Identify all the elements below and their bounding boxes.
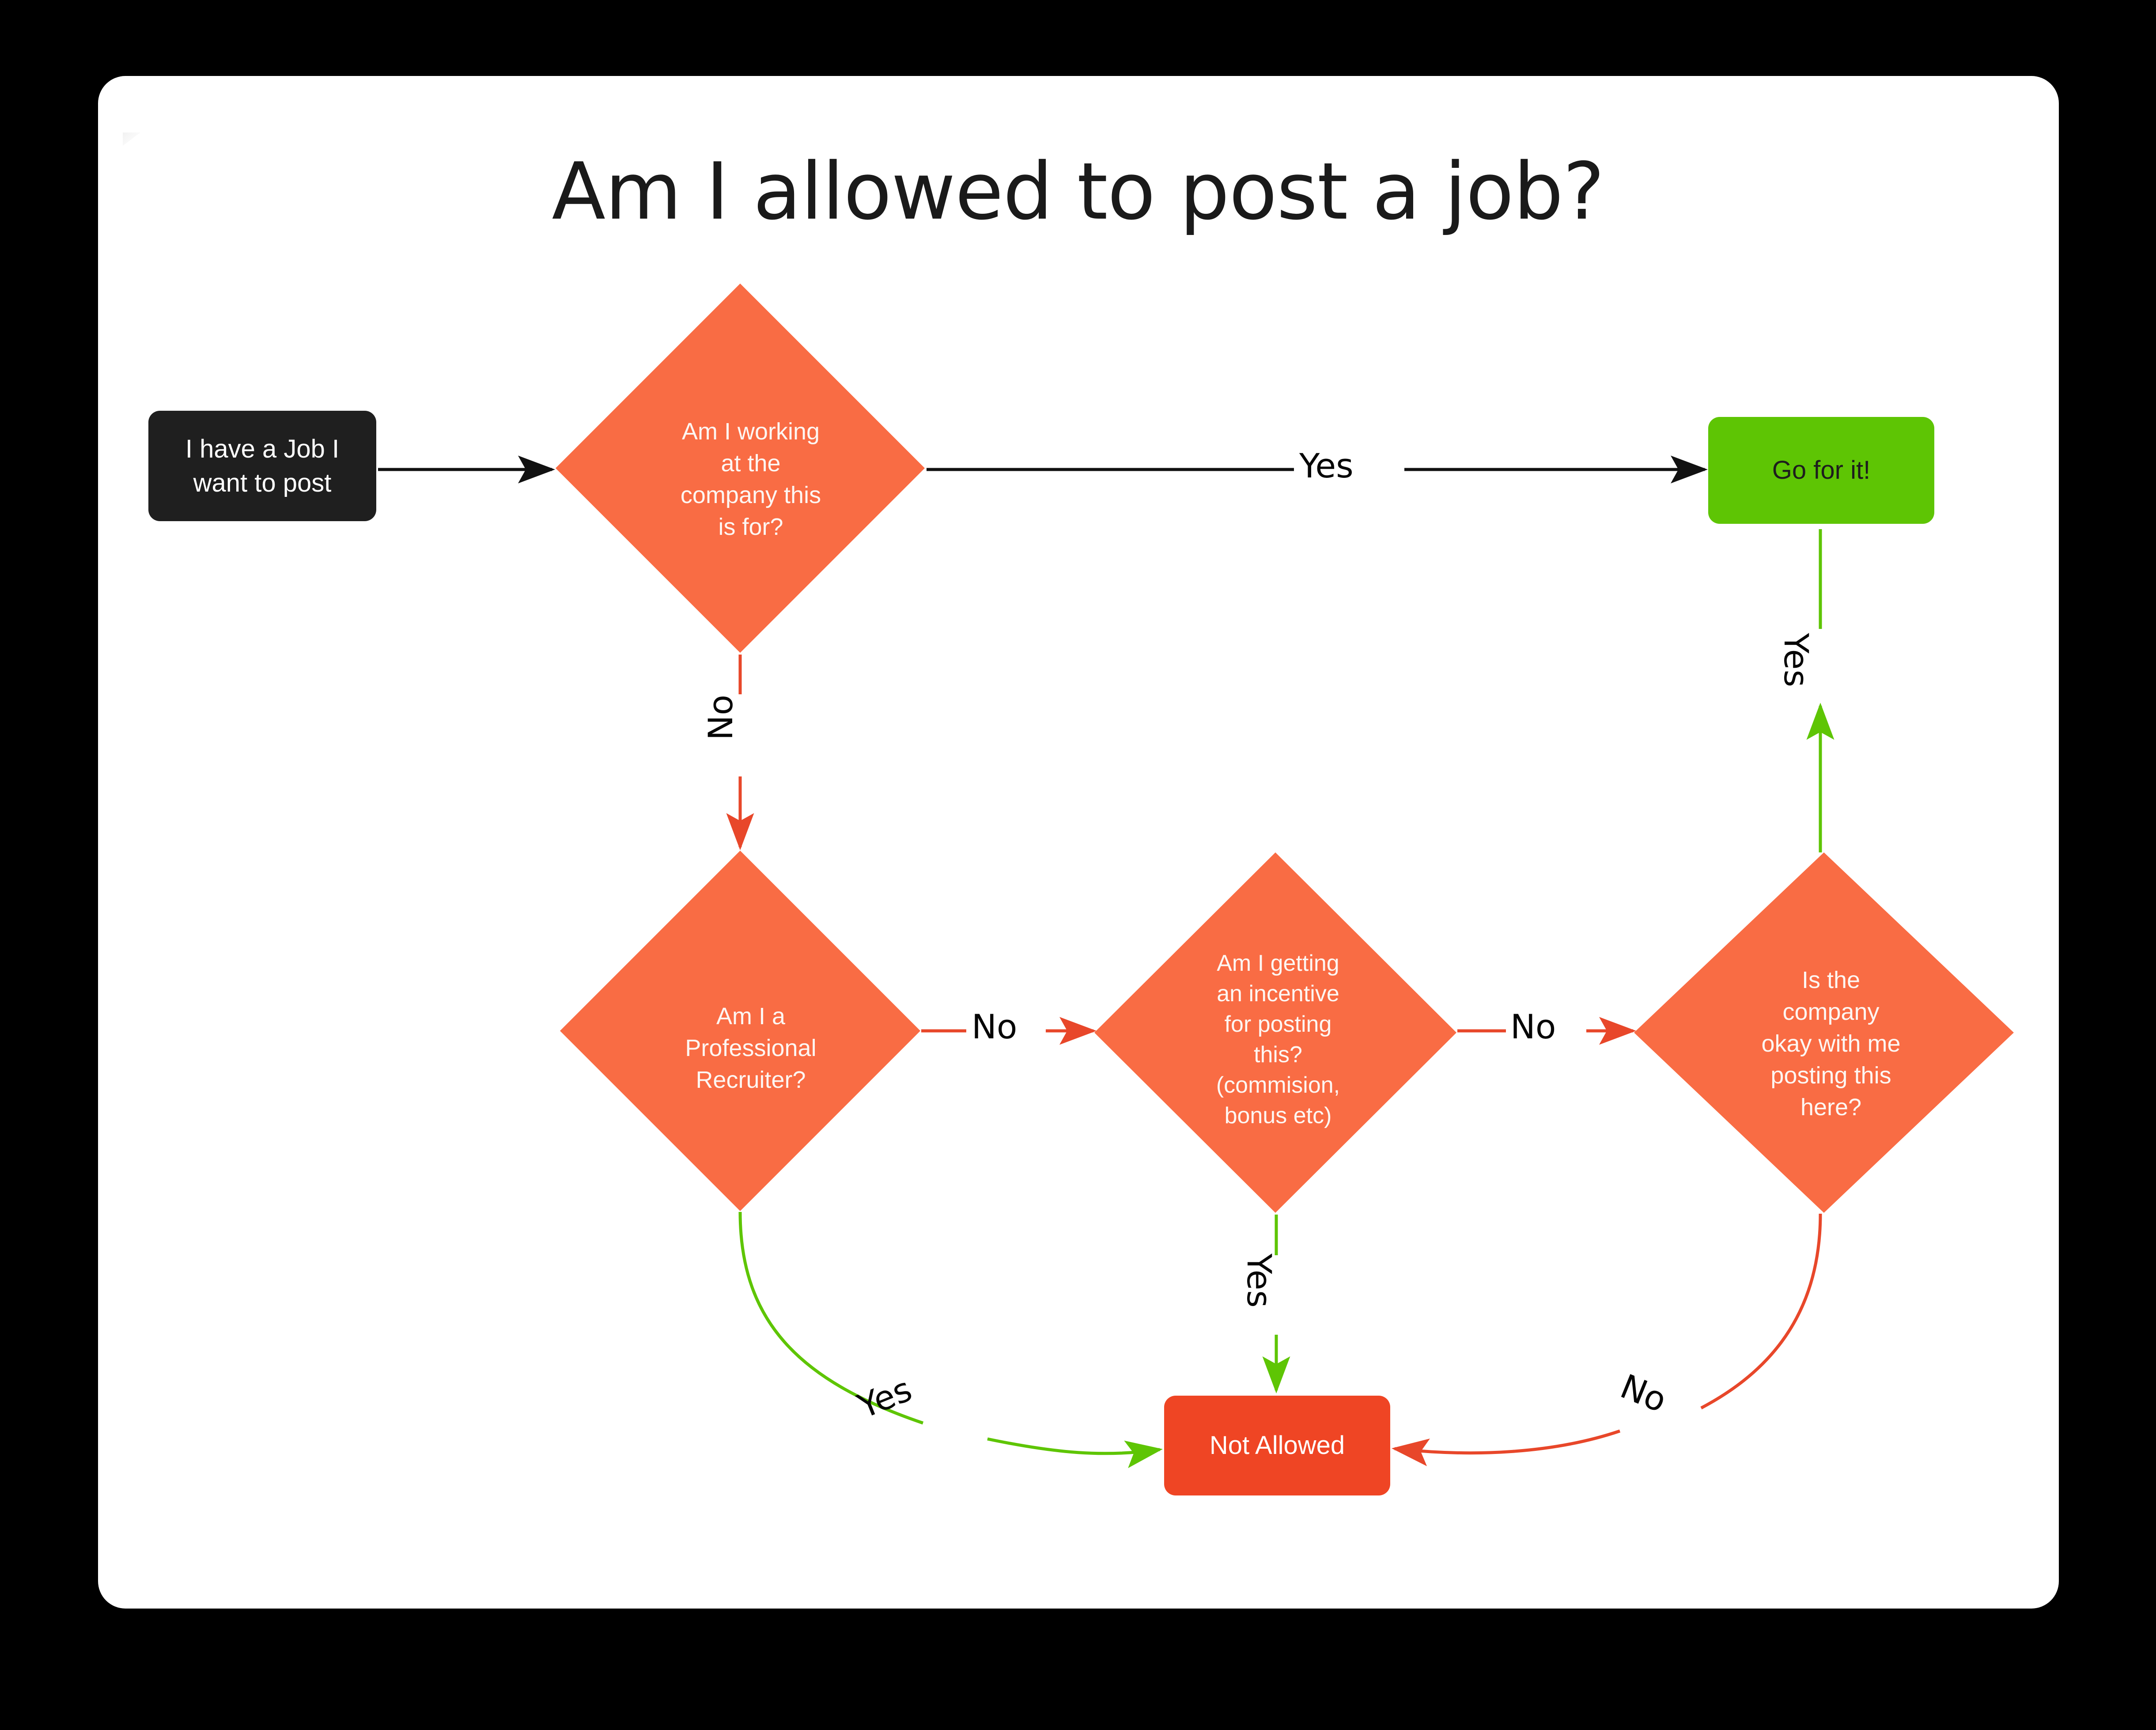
edge-label-yes-middle: Yes bbox=[1240, 1253, 1279, 1308]
node-decision-3-label: Am I getting an incentive for posting th… bbox=[1212, 948, 1344, 1132]
page-title: Am I allowed to post a job? bbox=[0, 146, 2156, 237]
node-start[interactable]: I have a Job I want to post bbox=[148, 411, 376, 521]
node-decision-1-label: Am I working at the company this is for? bbox=[676, 416, 825, 543]
edge-label-no-horizontal-2: No bbox=[1510, 1007, 1556, 1046]
diagram-card bbox=[98, 76, 2059, 1609]
edge-label-no-horizontal-1: No bbox=[972, 1007, 1017, 1046]
node-start-label: I have a Job I want to post bbox=[181, 432, 344, 500]
flowchart-canvas: Am I allowed to post a job? bbox=[0, 0, 2156, 1730]
node-decision-2-label: Am I a Professional Recruiter? bbox=[681, 1001, 821, 1096]
node-not-allowed[interactable]: Not Allowed bbox=[1164, 1396, 1390, 1495]
edge-label-yes-top: Yes bbox=[1299, 446, 1354, 485]
node-go-for-it-label: Go for it! bbox=[1768, 453, 1875, 487]
edge-label-no-vertical: No bbox=[701, 695, 740, 740]
node-go-for-it[interactable]: Go for it! bbox=[1708, 417, 1934, 524]
edge-label-yes-right: Yes bbox=[1777, 633, 1816, 687]
node-not-allowed-label: Not Allowed bbox=[1205, 1428, 1349, 1462]
node-decision-4-label: Is the company okay with me posting this… bbox=[1757, 965, 1905, 1123]
